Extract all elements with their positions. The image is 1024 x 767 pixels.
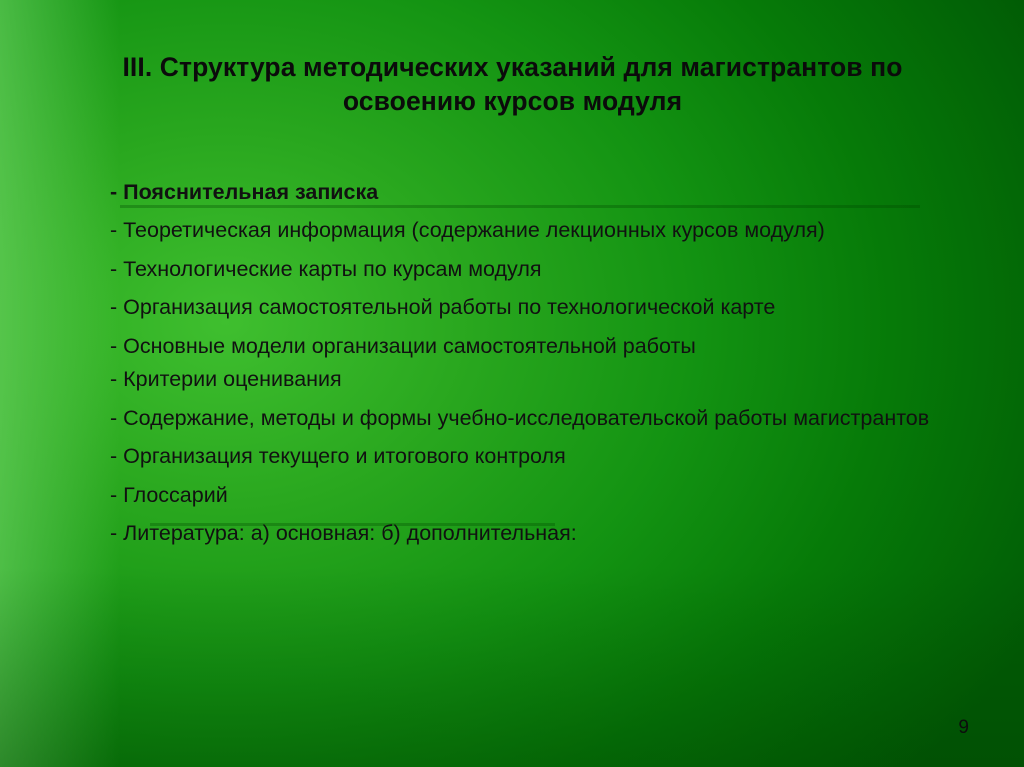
slide-title: III. Структура методических указаний для… xyxy=(95,50,930,119)
content-list: - Пояснительная записка - Теоретическая … xyxy=(110,178,970,558)
list-item: - Содержание, методы и формы учебно-иссл… xyxy=(110,404,970,433)
list-item: - Пояснительная записка xyxy=(110,178,970,207)
list-item: - Критерии оценивания xyxy=(110,365,970,394)
list-item: - Организация самостоятельной работы по … xyxy=(110,293,970,322)
list-item: - Теоретическая информация (содержание л… xyxy=(110,216,970,245)
list-item: - Технологические карты по курсам модуля xyxy=(110,255,970,284)
list-item: - Основные модели организации самостояте… xyxy=(110,332,970,361)
list-item: - Глоссарий xyxy=(110,481,970,510)
list-item-literature-label: - Литература xyxy=(110,521,239,545)
list-item-literature-detail: : а) основная: б) дополнительная: xyxy=(239,521,577,545)
list-item: - Организация текущего и итогового контр… xyxy=(110,442,970,471)
list-item-literature: - Литература: а) основная: б) дополнител… xyxy=(110,519,970,548)
slide: III. Структура методических указаний для… xyxy=(0,0,1024,767)
page-number: 9 xyxy=(958,717,969,739)
